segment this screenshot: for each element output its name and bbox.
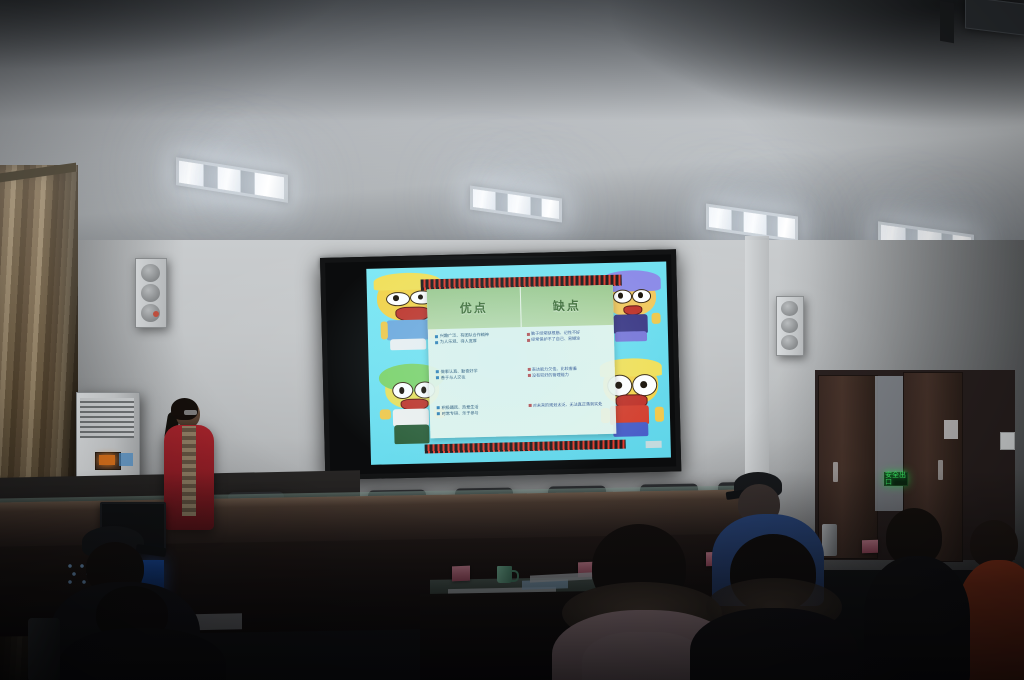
door-handle-left[interactable] <box>833 462 838 482</box>
ac-badge <box>119 453 133 466</box>
audience-front-dark-coat <box>690 534 858 680</box>
slide-row1-left: 兴趣广泛、有团队合作精神 为人乐观、待人宽厚 <box>435 332 513 346</box>
door-notice <box>944 420 958 439</box>
audience-left-hood <box>66 586 216 680</box>
slide-bottom-border <box>425 440 626 454</box>
ceiling-shadow-beam <box>940 1 954 43</box>
slide-content-card: 优点 缺点 兴趣广泛、有团队合作精神 为人乐观、待人宽厚 脑子经常缺根筋、记性不… <box>427 284 617 437</box>
wall-speaker-left <box>135 258 167 328</box>
pull-down-projection-screen: 优点 缺点 兴趣广泛、有团队合作精神 为人乐观、待人宽厚 脑子经常缺根筋、记性不… <box>320 249 681 480</box>
audience-right-dark <box>868 508 964 680</box>
projected-slide: 优点 缺点 兴趣广泛、有团队合作精神 为人乐观、待人宽厚 脑子经常缺根筋、记性不… <box>366 262 671 465</box>
speaker-led <box>153 311 159 317</box>
name-card-1 <box>452 566 470 582</box>
door-gap-light <box>875 376 905 511</box>
ac-grill <box>80 398 134 438</box>
exit-sign-label: 安全出口 <box>885 472 907 486</box>
door-handle-right[interactable] <box>938 460 943 480</box>
glasses-icon <box>184 410 197 415</box>
presenter-scarf <box>182 426 196 516</box>
conference-room-photo: 安全出口 <box>0 0 1024 680</box>
slide-row2-right: 表达能力欠佳、比较害羞 没有较好的管理能力 <box>527 365 607 379</box>
slide-row1-right: 脑子经常缺根筋、记性不好 经常保护不了自己、易糊涂 <box>526 329 606 343</box>
wall-column <box>745 236 769 486</box>
presenter-standing <box>160 400 222 546</box>
suspended-ceiling <box>0 0 1024 268</box>
ceiling-dark-corner-right <box>594 0 1024 134</box>
slide-corner-widget <box>646 441 662 448</box>
foreground-thermos <box>28 618 60 680</box>
wall-speaker-right <box>776 296 804 356</box>
exit-sign: 安全出口 <box>884 472 908 486</box>
presenter-hair <box>171 398 198 420</box>
mug-handle <box>511 570 519 582</box>
slide-row2-left: 做事认真、勤奋好学 善于与人交往 <box>436 367 514 381</box>
slide-row3-right: 对未来的规划太泛、无法真正落到实处 <box>528 401 608 409</box>
wall-light-switch[interactable] <box>1000 432 1015 450</box>
slide-row3-left: 积极踊跃、热爱生活 时常专研、乐于参与 <box>437 403 515 417</box>
ceiling-dark-corner-left <box>0 0 348 70</box>
slide-column-header-weaknesses: 缺点 <box>520 284 614 326</box>
ac-display-led <box>99 455 115 465</box>
green-mug <box>497 566 512 583</box>
slide-column-header-strengths: 优点 <box>427 287 521 329</box>
